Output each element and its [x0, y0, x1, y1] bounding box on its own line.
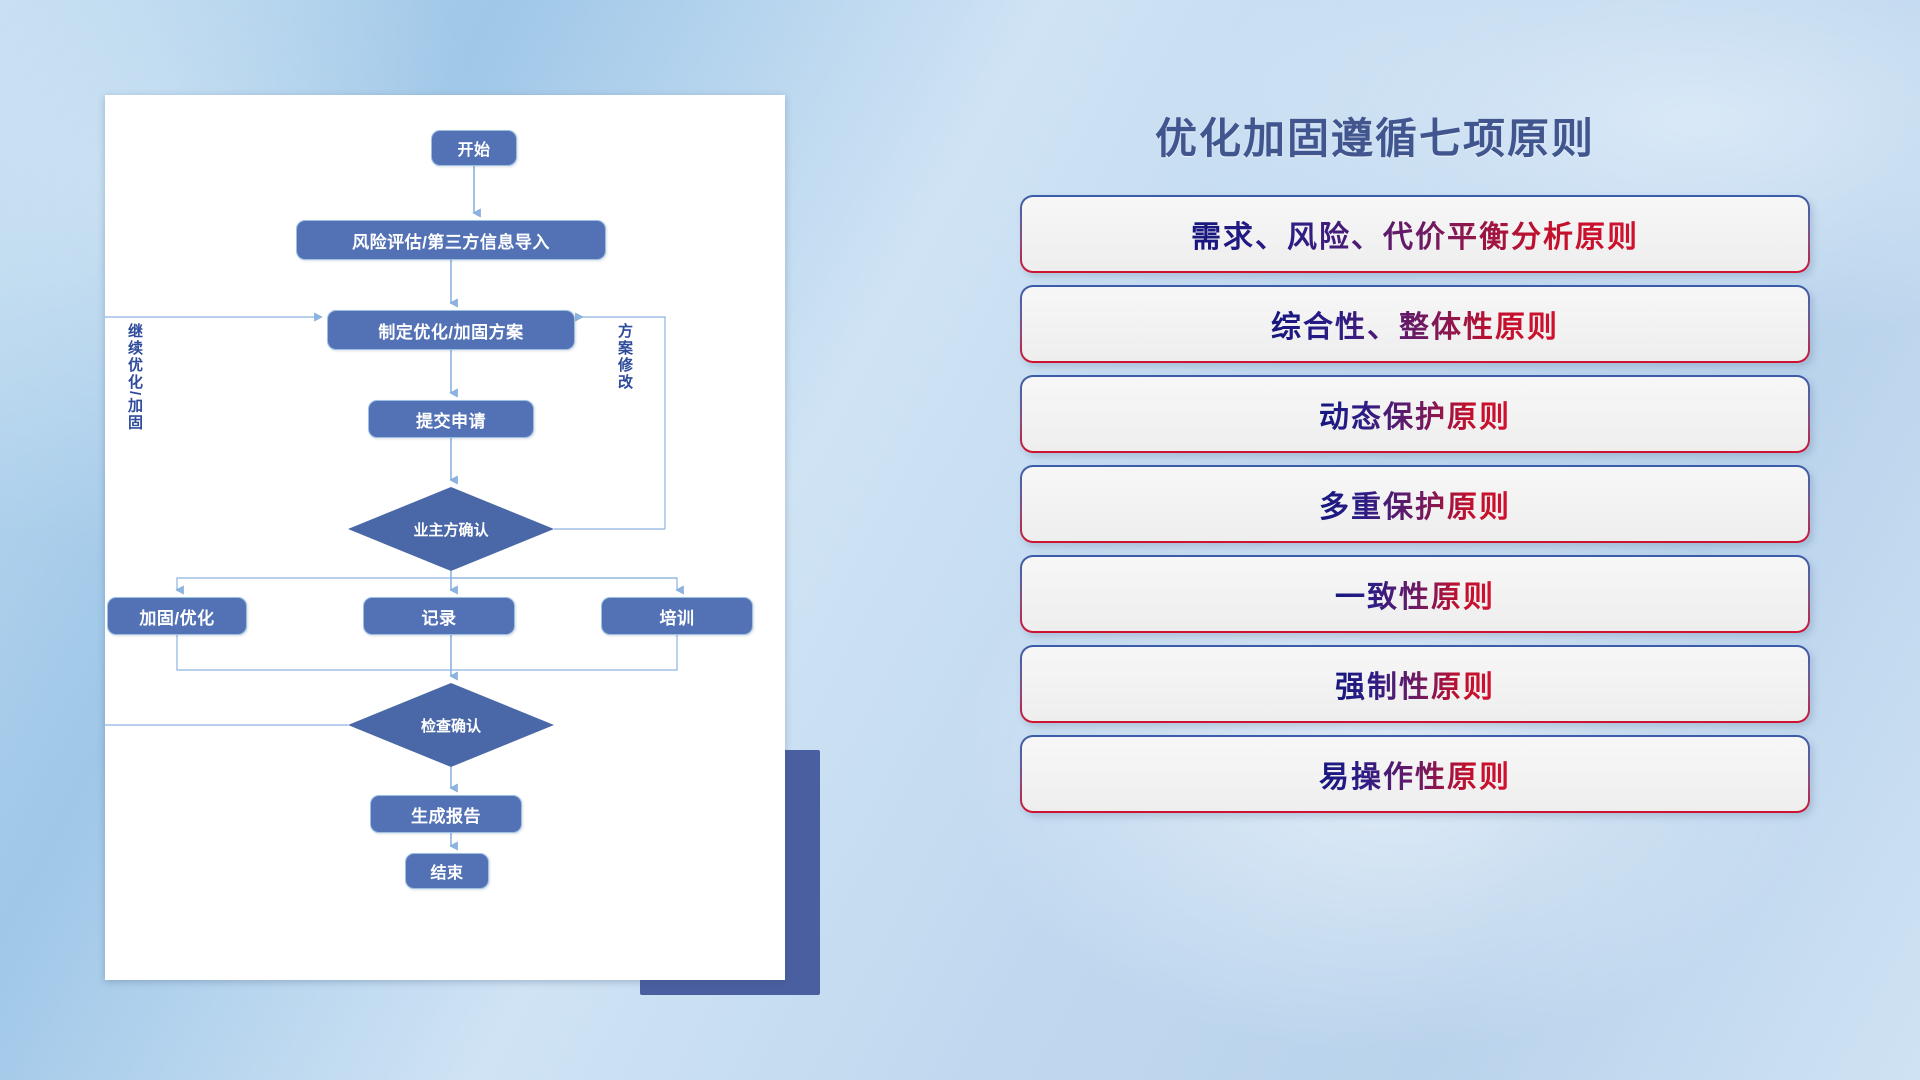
principle-card-label: 需求、风险、代价平衡分析原则	[1191, 212, 1639, 256]
flow-node-label: 结束	[430, 859, 463, 883]
principle-card-inner: 一致性原则	[1022, 557, 1808, 631]
flow-node-risk: 风险评估/第三方信息导入	[296, 220, 606, 260]
principle-card-6[interactable]: 强制性原则	[1020, 645, 1810, 723]
principle-card-inner: 动态保护原则	[1022, 377, 1808, 451]
principle-card-4[interactable]: 多重保护原则	[1020, 465, 1810, 543]
principle-card-inner: 强制性原则	[1022, 647, 1808, 721]
principle-card-inner: 综合性、整体性原则	[1022, 287, 1808, 361]
flow-node-label: 生成报告	[411, 802, 481, 827]
principle-card-label: 易操作性原则	[1319, 752, 1511, 796]
flow-node-label: 记录	[422, 604, 457, 629]
flow-node-reinforce: 加固/优化	[107, 597, 247, 635]
flow-node-label: 开始	[457, 136, 490, 160]
flow-node-start: 开始	[431, 130, 517, 166]
flow-node-label: 培训	[660, 604, 695, 629]
principles-panel: 优化加固遵循七项原则 需求、风险、代价平衡分析原则综合性、整体性原则动态保护原则…	[1020, 0, 1890, 1080]
flow-node-training: 培训	[601, 597, 753, 635]
principle-card-label: 一致性原则	[1335, 572, 1495, 616]
flow-node-plan: 制定优化/加固方案	[327, 310, 575, 350]
flow-side-label-left-loop: 继续优化/加固	[127, 323, 142, 431]
flow-node-label: 风险评估/第三方信息导入	[352, 228, 550, 253]
principle-card-2[interactable]: 综合性、整体性原则	[1020, 285, 1810, 363]
flowchart-panel: 开始风险评估/第三方信息导入制定优化/加固方案提交申请业主方确认加固/优化记录培…	[105, 95, 785, 980]
flow-node-check: 检查确认	[348, 683, 554, 767]
flow-node-end: 结束	[405, 853, 489, 889]
flow-node-submit: 提交申请	[368, 400, 534, 438]
flow-node-label: 提交申请	[416, 407, 486, 432]
principle-card-5[interactable]: 一致性原则	[1020, 555, 1810, 633]
page-title: 优化加固遵循七项原则	[1155, 105, 1595, 166]
flow-node-label: 加固/优化	[139, 604, 214, 629]
principle-card-7[interactable]: 易操作性原则	[1020, 735, 1810, 813]
flow-node-report: 生成报告	[370, 795, 522, 833]
flow-node-owner: 业主方确认	[348, 487, 554, 571]
principle-card-inner: 需求、风险、代价平衡分析原则	[1022, 197, 1808, 271]
principle-card-label: 强制性原则	[1335, 662, 1495, 706]
principle-card-3[interactable]: 动态保护原则	[1020, 375, 1810, 453]
flowchart-node-layer: 开始风险评估/第三方信息导入制定优化/加固方案提交申请业主方确认加固/优化记录培…	[105, 95, 785, 980]
principle-card-label: 多重保护原则	[1319, 482, 1511, 526]
principle-card-label: 动态保护原则	[1319, 392, 1511, 436]
flow-node-label: 制定优化/加固方案	[378, 318, 523, 343]
flow-node-record: 记录	[363, 597, 515, 635]
flow-node-label: 业主方确认	[413, 519, 488, 540]
principle-card-label: 综合性、整体性原则	[1271, 302, 1559, 346]
flow-node-label: 检查确认	[421, 715, 481, 736]
principle-card-inner: 多重保护原则	[1022, 467, 1808, 541]
flow-side-label-right-loop: 方案修改	[617, 323, 632, 391]
principle-card-inner: 易操作性原则	[1022, 737, 1808, 811]
principle-card-1[interactable]: 需求、风险、代价平衡分析原则	[1020, 195, 1810, 273]
